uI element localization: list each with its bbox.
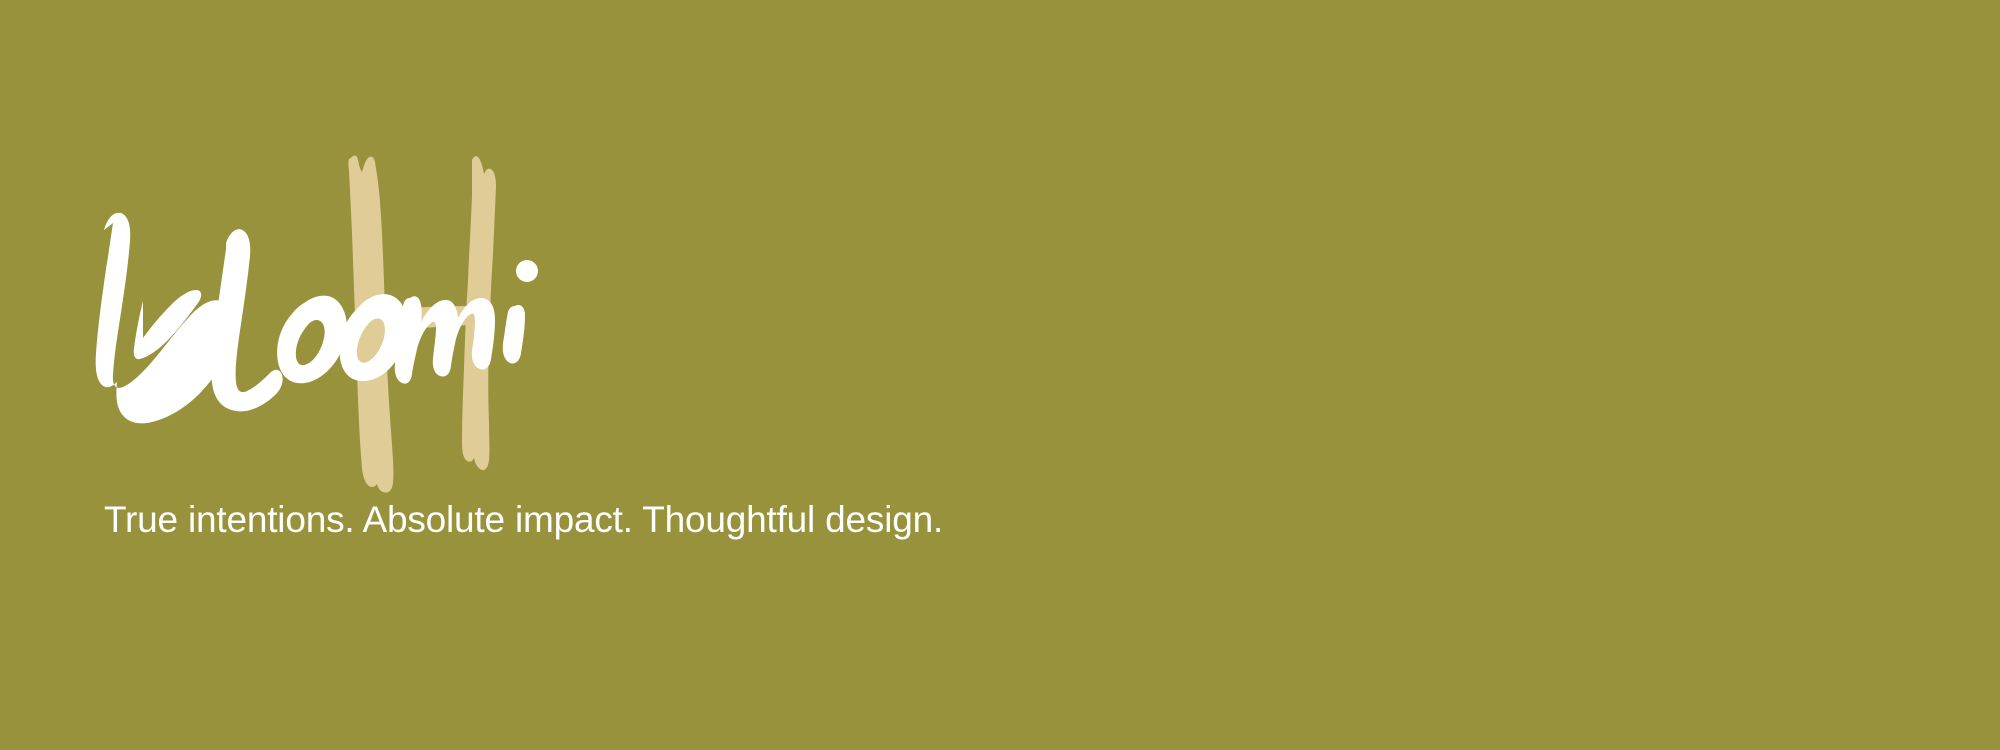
- brand-logo-svg: [80, 140, 560, 500]
- brand-banner: True intentions. Absolute impact. Though…: [0, 0, 2000, 750]
- brand-logo-lockup[interactable]: [80, 140, 560, 500]
- brand-tagline: True intentions. Absolute impact. Though…: [104, 497, 943, 543]
